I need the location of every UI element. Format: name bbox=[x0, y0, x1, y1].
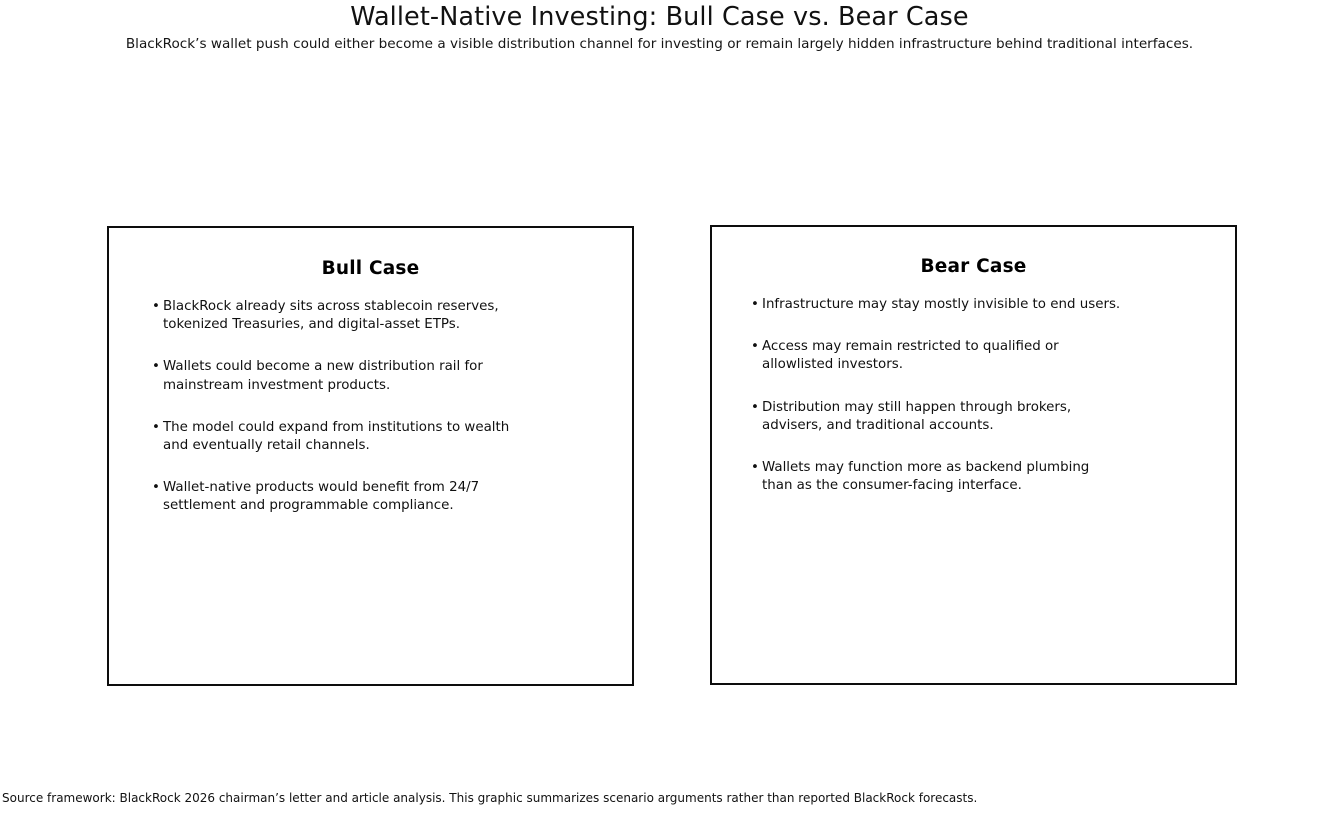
bullet-point-icon: • bbox=[751, 338, 759, 356]
panel-bull-case-bullet-list: • BlackRock already sits across stableco… bbox=[109, 298, 632, 516]
list-item: • Wallets may function more as backend p… bbox=[751, 459, 1122, 495]
bullet-point-icon: • bbox=[751, 459, 759, 477]
list-item-text: Infrastructure may stay mostly invisible… bbox=[762, 296, 1122, 314]
list-item-text: Distribution may still happen through br… bbox=[762, 399, 1122, 435]
list-item-text: Wallets may function more as backend plu… bbox=[762, 459, 1122, 495]
list-item-text: BlackRock already sits across stablecoin… bbox=[163, 298, 523, 334]
bullet-point-icon: • bbox=[152, 419, 160, 437]
list-item: • BlackRock already sits across stableco… bbox=[152, 298, 523, 334]
list-item-text: Wallet-native products would benefit fro… bbox=[163, 479, 523, 515]
list-item-text: The model could expand from institutions… bbox=[163, 419, 523, 455]
list-item: • The model could expand from institutio… bbox=[152, 419, 523, 455]
list-item: • Access may remain restricted to qualif… bbox=[751, 338, 1122, 374]
panel-bear-case-bullet-list: • Infrastructure may stay mostly invisib… bbox=[712, 296, 1235, 495]
bullet-point-icon: • bbox=[152, 358, 160, 376]
list-item-text: Access may remain restricted to qualifie… bbox=[762, 338, 1122, 374]
list-item: • Infrastructure may stay mostly invisib… bbox=[751, 296, 1122, 314]
panel-bull-case: Bull Case • BlackRock already sits acros… bbox=[107, 226, 634, 686]
bullet-point-icon: • bbox=[751, 399, 759, 417]
source-note: Source framework: BlackRock 2026 chairma… bbox=[2, 790, 977, 806]
list-item: • Wallets could become a new distributio… bbox=[152, 358, 523, 394]
comparison-panels: Bull Case • BlackRock already sits acros… bbox=[0, 0, 1319, 814]
list-item-text: Wallets could become a new distribution … bbox=[163, 358, 523, 394]
panel-bear-case-heading: Bear Case bbox=[712, 227, 1235, 277]
panel-bull-case-heading: Bull Case bbox=[109, 228, 632, 279]
list-item: • Wallet-native products would benefit f… bbox=[152, 479, 523, 515]
list-item: • Distribution may still happen through … bbox=[751, 399, 1122, 435]
panel-bear-case: Bear Case • Infrastructure may stay most… bbox=[710, 225, 1237, 685]
bullet-point-icon: • bbox=[152, 298, 160, 316]
bullet-point-icon: • bbox=[751, 296, 759, 314]
bullet-point-icon: • bbox=[152, 479, 160, 497]
